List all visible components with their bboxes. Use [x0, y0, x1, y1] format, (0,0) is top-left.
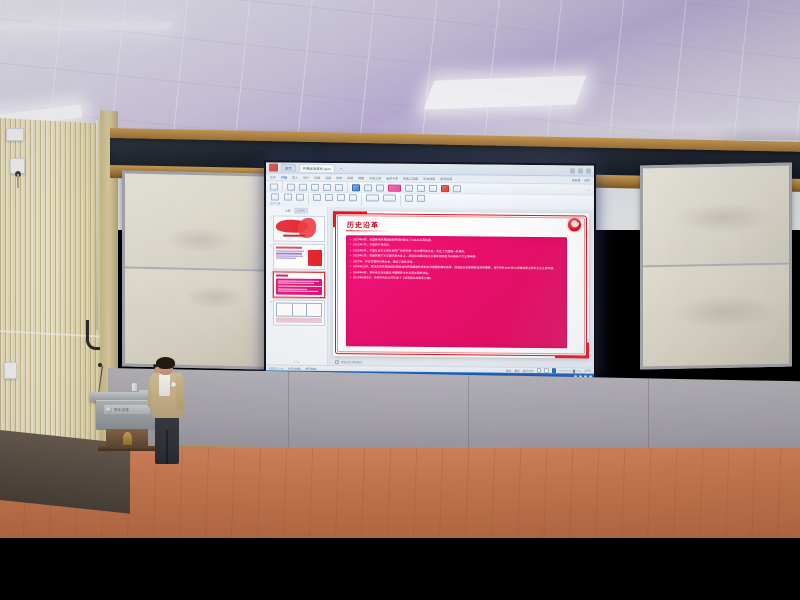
ribbon-tab-animation[interactable]: 动画: [325, 175, 331, 179]
communist-youth-league-emblem-icon: [568, 218, 581, 231]
bullet-dot-icon: •: [350, 255, 351, 259]
slide-title[interactable]: 历史沿革: [347, 220, 379, 230]
bullet-dot-icon: •: [350, 276, 351, 280]
chart-icon[interactable]: [337, 194, 345, 201]
format-painter-icon[interactable]: [311, 183, 319, 190]
thumbnail-slide-2[interactable]: 2: [268, 243, 325, 270]
align-icon[interactable]: [284, 194, 292, 201]
close-icon[interactable]: [586, 168, 591, 173]
border-icon[interactable]: [383, 195, 396, 202]
camera-cable: [17, 174, 19, 188]
security-camera-icon: [10, 158, 25, 174]
thumbnail-preview[interactable]: [273, 271, 325, 297]
font-icon[interactable]: [388, 184, 401, 191]
status-display-mode[interactable]: 显示方式: [523, 368, 534, 372]
podium-plaque: 青年讲堂: [104, 405, 150, 414]
presenter-right-arm: [175, 376, 185, 410]
copy-icon[interactable]: [299, 183, 307, 190]
ribbon-tab-slideshow[interactable]: 放映: [336, 176, 342, 180]
wps-logo-icon: [269, 163, 278, 171]
bullet-dot-icon: •: [350, 244, 351, 248]
bullet-text: 1925年1月，在团的第三次全国代表大会上，决定将中国社会主义青年团改名为中国共…: [353, 255, 478, 260]
find-replace-icon[interactable]: [453, 185, 461, 192]
hanging-cable: [96, 120, 98, 330]
wall-panel-box: [6, 128, 24, 141]
notes-placeholder[interactable]: 单击此处添加备注: [335, 360, 363, 364]
bullet-text: 1922年5月，中国社会主义青年团在广州召开第一次全国代表大会，成立了全国统一的…: [353, 249, 467, 254]
section-icon[interactable]: [376, 184, 384, 191]
ribbon-tab-developer[interactable]: 开发工具: [369, 176, 381, 180]
thumbnail-preview[interactable]: [273, 243, 325, 269]
thumbnail-preview[interactable]: [273, 299, 325, 325]
shape-icon[interactable]: [417, 184, 425, 191]
table-icon[interactable]: [325, 194, 333, 201]
bullet-dot-icon: •: [350, 249, 351, 253]
status-comments[interactable]: 批注: [506, 368, 511, 372]
audience: [0, 440, 800, 600]
slide-bullet: • 2016年8月2日，中共中央办公厅印发了《共青团中央改革方案》: [350, 276, 563, 282]
thumbnail-preview[interactable]: [273, 215, 325, 241]
bullet-dot-icon: •: [350, 260, 351, 264]
bullet-text: 1920年8月，全国各地共青团组织的同时建立了社会主义青年团。: [353, 238, 433, 242]
cable-hook: [86, 320, 100, 350]
bullet-text: 2016年8月2日，中共中央办公厅印发了《共青团中央改革方案》: [353, 276, 432, 280]
paste-icon[interactable]: [270, 183, 278, 190]
fill-icon[interactable]: [441, 185, 449, 192]
tab-document[interactable]: 共青团发展史.pptx: [299, 164, 335, 172]
presenter-badge: [171, 382, 176, 387]
video-icon[interactable]: [349, 194, 357, 201]
ribbon-tab-member[interactable]: 会员专享: [386, 176, 398, 180]
paragraph-icon[interactable]: [405, 184, 413, 191]
thumbnail-pane-header[interactable]: 大纲 幻灯片: [268, 207, 325, 214]
text-tool-icon[interactable]: 文字工具: [270, 193, 280, 205]
ribbon-tab-file[interactable]: 文件: [270, 175, 276, 179]
status-spellcheck[interactable]: 拼写检查: [306, 366, 317, 370]
cut-icon[interactable]: [287, 183, 295, 190]
microphone-icon: [98, 363, 102, 367]
bullet-text: 1949年4月，党中央又作出建立中国新民主主义青年团的决议。: [353, 271, 431, 275]
wall-switch-plate: [4, 362, 17, 379]
notes-placeholder-text: 单击此处添加备注: [341, 360, 363, 364]
projection-screen: 首页 共青团发展史.pptx + 文件 开始 插入 设计 切换 动画 放映 审阅: [264, 160, 596, 381]
bullet-text: 1927年，在汉口召开代表大会，通过了团的决议。: [353, 260, 415, 264]
thumbnail-slide-4[interactable]: 4: [268, 299, 325, 326]
thumbnail-slide-1[interactable]: 1: [268, 215, 325, 242]
ceiling-light: [424, 75, 587, 109]
play-from-start-icon[interactable]: [405, 195, 413, 202]
presenter-shirt: [159, 374, 170, 396]
picture-icon[interactable]: [313, 194, 321, 201]
notes-icon: [335, 360, 339, 364]
arrange-icon[interactable]: [429, 184, 437, 191]
ceiling-light: [0, 22, 173, 30]
ribbon-tab-review[interactable]: 审阅: [347, 176, 353, 180]
undo-icon[interactable]: [323, 183, 331, 190]
minimize-icon[interactable]: [570, 168, 575, 173]
zoom-level[interactable]: 100%: [584, 369, 591, 372]
thumbnail-number: 3: [268, 271, 272, 275]
thumbnail-number: 2: [268, 243, 272, 247]
collaborate-label[interactable]: 协作: [584, 178, 590, 182]
account-label[interactable]: 未登录: [572, 178, 580, 182]
tab-home[interactable]: 首页: [281, 164, 296, 172]
bullet-dot-icon: •: [350, 271, 351, 275]
slides-tab[interactable]: 幻灯片: [294, 208, 308, 214]
new-slide-icon[interactable]: [352, 184, 360, 191]
ribbon-account-area[interactable]: 未登录 协作: [572, 178, 590, 182]
window-controls[interactable]: [570, 168, 591, 173]
ribbon-tab-toolbox[interactable]: 智能工具箱: [403, 176, 418, 180]
search-icon[interactable]: ⌕: [588, 188, 590, 192]
ribbon-search-area[interactable]: ⌕: [588, 188, 590, 192]
outline-tab[interactable]: 大纲: [285, 209, 291, 213]
thumbnail-number: 4: [268, 299, 272, 303]
notes-icon[interactable]: [417, 195, 425, 202]
left-whiteboard: [122, 170, 268, 369]
slide-editing-stage[interactable]: 历史沿革 • 1920年8月，全国各地共青团组织的同时建立了社会主义青年团。 •…: [328, 207, 594, 368]
ribbon-tab-design[interactable]: 设计: [303, 175, 309, 179]
university-seal-icon: [106, 407, 112, 413]
podium-plaque-text: 青年讲堂: [114, 407, 129, 412]
editor-body: 大纲 幻灯片 1 2: [266, 206, 594, 367]
ribbon-tab-view[interactable]: 视图: [358, 176, 364, 180]
new-tab-button[interactable]: +: [338, 166, 344, 171]
status-language[interactable]: 中文(中国): [288, 366, 301, 370]
thumbnail-pager: 1 / 4: [268, 358, 325, 364]
slide-bullet-panel[interactable]: • 1920年8月，全国各地共青团组织的同时建立了社会主义青年团。 • 1921…: [346, 235, 567, 348]
thumbnail-number: 1: [268, 215, 272, 219]
shape-fill-icon[interactable]: [366, 194, 379, 201]
powerpoint-window: 首页 共青团发展史.pptx + 文件 开始 插入 设计 切换 动画 放映 审阅: [266, 162, 594, 379]
right-whiteboard: [640, 163, 792, 370]
bullet-text: 1936年11月，党决定将共青团组织改造成为民族解放性质的抗日救国的青年团体，经…: [353, 265, 556, 270]
current-slide[interactable]: 历史沿革 • 1920年8月，全国各地共青团组织的同时建立了社会主义青年团。 •…: [333, 211, 589, 358]
ribbon-tab-insert[interactable]: 插入: [292, 175, 298, 179]
ribbon-tab-resource[interactable]: 稻壳资源: [440, 177, 452, 181]
layout-icon[interactable]: [364, 184, 372, 191]
ribbon-tab-home[interactable]: 开始: [281, 175, 287, 179]
zoom-slider[interactable]: [559, 370, 581, 371]
ribbon-tab-thesis[interactable]: 论文排版: [423, 176, 435, 180]
slide-thumbnail-pane[interactable]: 大纲 幻灯片 1 2: [266, 206, 328, 365]
lecture-hall-photo: 首页 共青团发展史.pptx + 文件 开始 插入 设计 切换 动画 放映 审阅: [0, 0, 800, 600]
zoom-slide-icon[interactable]: [296, 194, 304, 201]
status-slide-counter: 幻灯片 3 / 4: [269, 366, 283, 370]
water-cup: [132, 383, 137, 391]
status-notes[interactable]: 备注: [515, 368, 520, 372]
bullet-text: 1921年7月，中国共产党成立。: [353, 244, 392, 248]
maximize-icon[interactable]: [578, 168, 583, 173]
bullet-dot-icon: •: [350, 238, 351, 242]
bullet-dot-icon: •: [350, 265, 351, 269]
text-tool-label: 文字工具: [270, 201, 280, 205]
redo-icon[interactable]: [335, 184, 343, 191]
thumbnail-slide-3[interactable]: 3: [268, 271, 325, 298]
ribbon-tab-transition[interactable]: 切换: [314, 175, 320, 179]
